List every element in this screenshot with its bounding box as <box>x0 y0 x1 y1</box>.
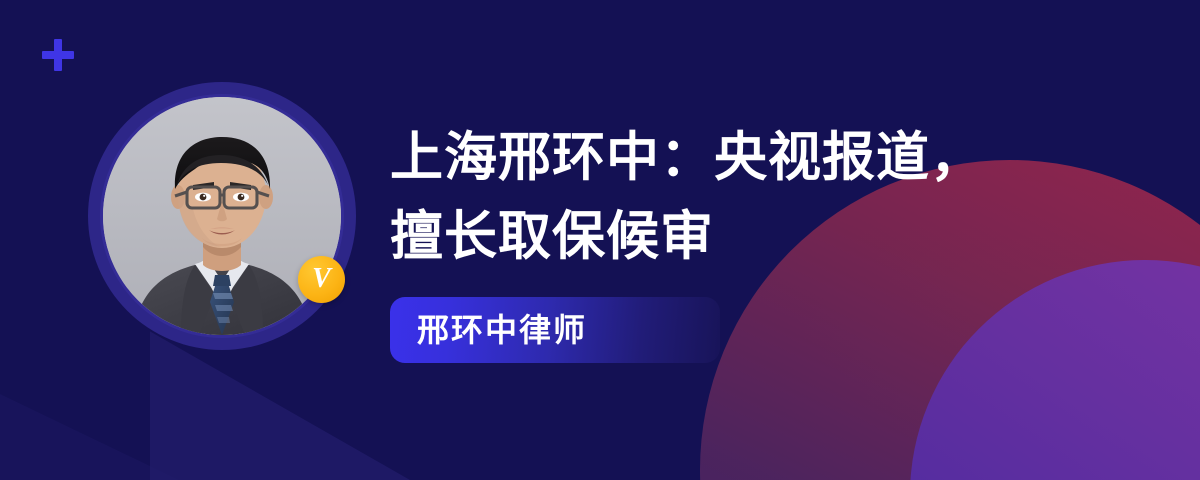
wedge-decoration-secondary <box>0 330 200 480</box>
verified-badge-glyph: V <box>312 265 331 293</box>
plus-icon-vertical-bar <box>54 39 62 71</box>
banner-content: 上海邢环中：央视报道， 擅长取保候审 邢环中律师 <box>390 118 1150 363</box>
avatar[interactable]: V <box>103 97 341 335</box>
verified-badge-icon: V <box>298 256 345 303</box>
avatar-image <box>103 97 341 335</box>
plus-icon <box>42 39 74 71</box>
profile-banner: V 上海邢环中：央视报道， 擅长取保候审 邢环中律师 <box>0 0 1200 480</box>
lawyer-name-button[interactable]: 邢环中律师 <box>390 297 720 363</box>
page-title: 上海邢环中：央视报道， 擅长取保候审 <box>390 118 1150 276</box>
